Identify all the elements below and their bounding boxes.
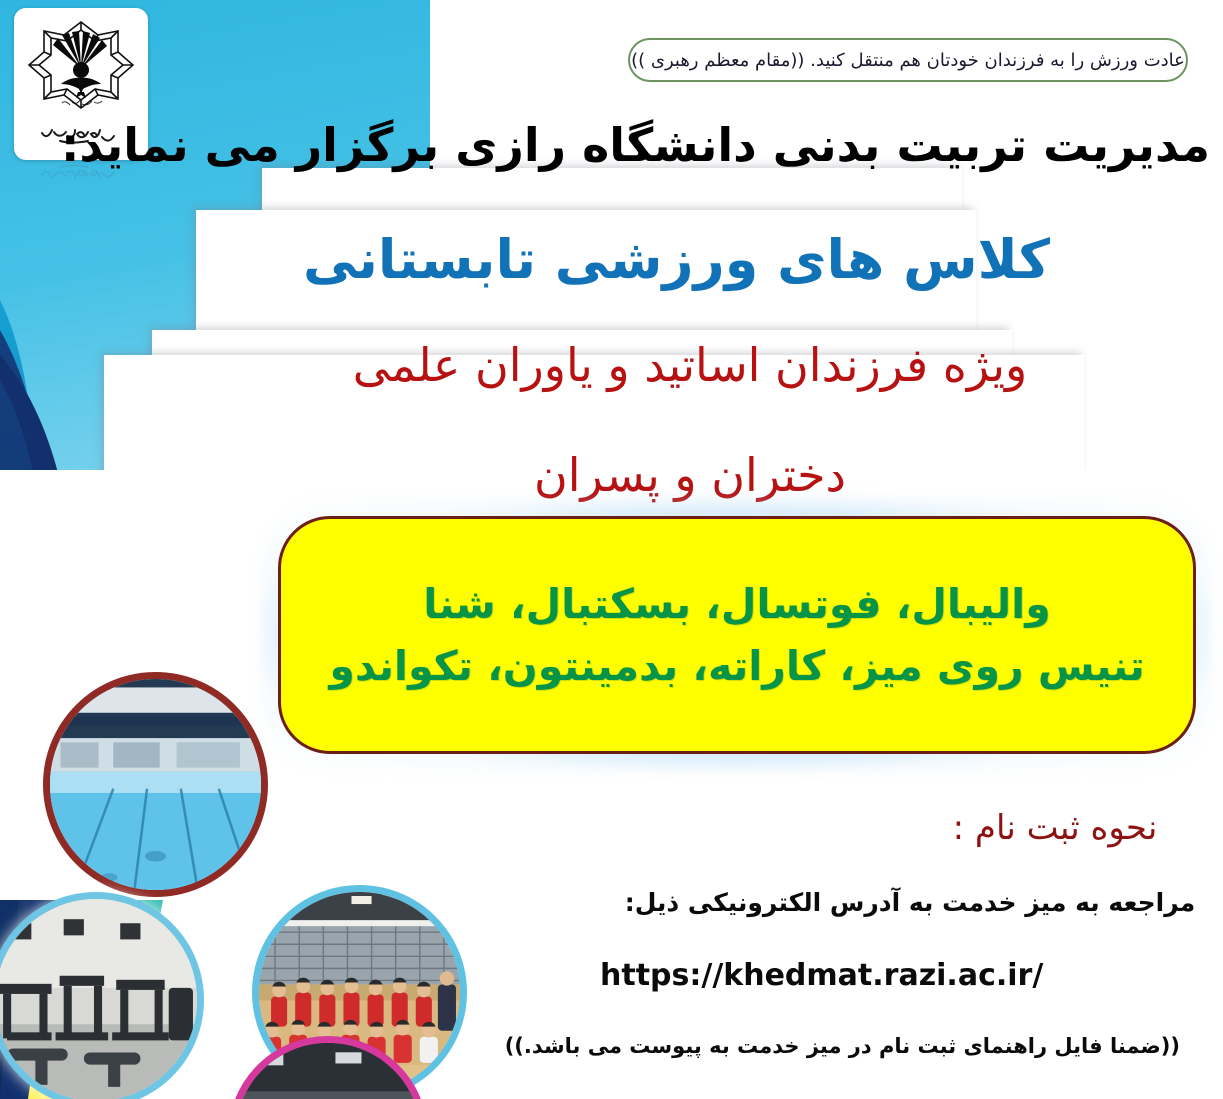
- registration-instruction: مراجعه به میز خدمت به آدرس الکترونیکی ذی…: [600, 888, 1220, 917]
- logo-center-dot: [73, 62, 89, 78]
- poster-canvas: عادت ورزش را به فرزندان خودتان هم منتقل …: [0, 0, 1223, 1099]
- registration-heading: نحوه ثبت نام :: [900, 808, 1210, 848]
- organizer-heading: مدیریت تربیت بدنی دانشگاه رازی برگزار می…: [180, 118, 1210, 172]
- gym-equipment-image: [0, 899, 197, 1099]
- sports-line-2: تنیس روی میز، کاراته، بدمینتون، تکواندو: [329, 642, 1144, 690]
- audience-line-2: دختران و پسران: [330, 448, 1050, 502]
- leader-quote-text: عادت ورزش را به فرزندان خودتان هم منتقل …: [631, 50, 1185, 71]
- sports-list-box: والیبال، فوتسال، بسکتبال، شنا تنیس روی م…: [278, 516, 1196, 754]
- registration-note: ((ضمنا فایل راهنمای ثبت نام در میز خدمت …: [580, 1034, 1180, 1058]
- swimming-pool-photo: [43, 672, 268, 897]
- audience-line-1: ویژه فرزندان اساتید و یاوران علمی: [170, 338, 1210, 392]
- swimming-pool-image: [50, 679, 261, 890]
- registration-url[interactable]: https://khedmat.razi.ac.ir/: [600, 958, 1040, 993]
- event-title-heading: کلاس های ورزشی تابستانی: [330, 228, 1050, 291]
- leader-quote-box: عادت ورزش را به فرزندان خودتان هم منتقل …: [628, 38, 1188, 82]
- sports-line-1: والیبال، فوتسال، بسکتبال، شنا: [423, 580, 1050, 628]
